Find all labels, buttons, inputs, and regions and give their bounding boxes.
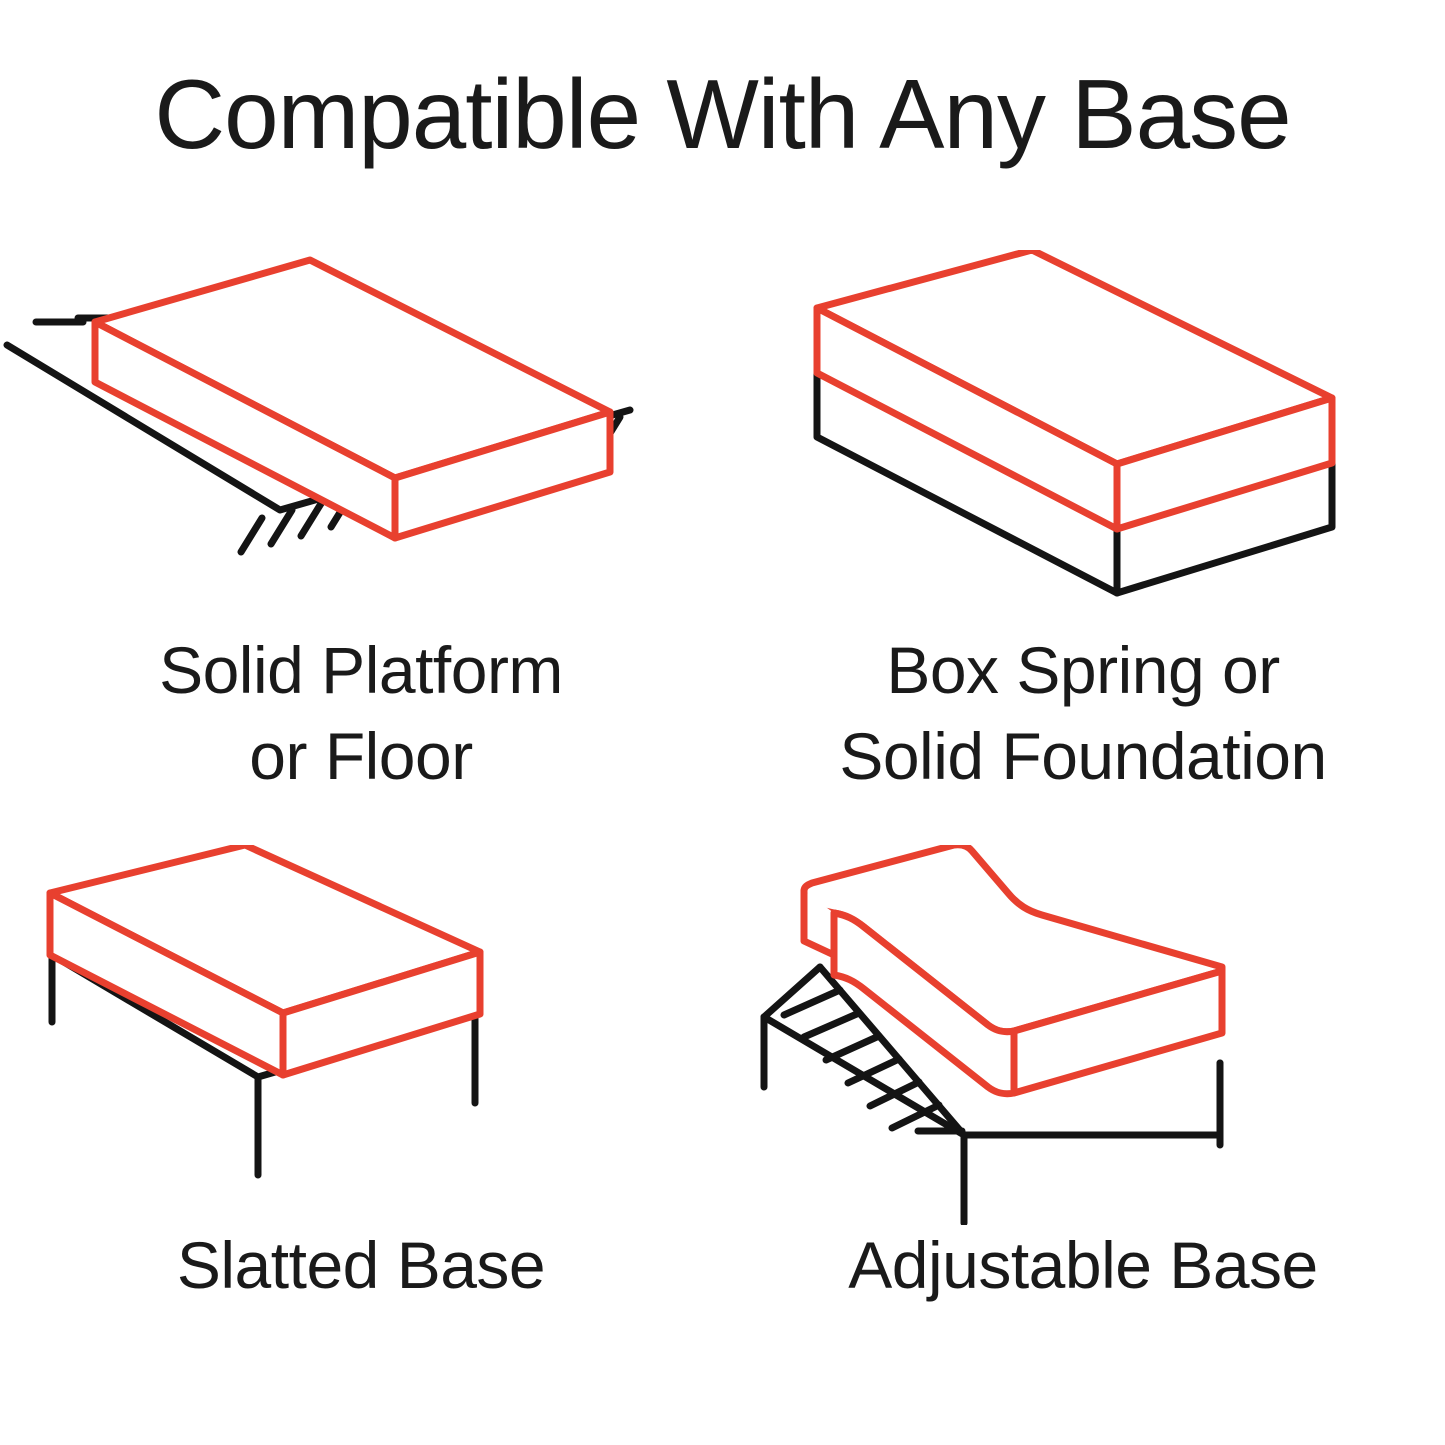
mattress-shape	[95, 260, 610, 538]
base-card-solid-platform: Solid Platform or Floor	[0, 250, 722, 845]
infographic-page: Compatible With Any Base	[0, 0, 1445, 1445]
page-title: Compatible With Any Base	[0, 62, 1445, 168]
mattress-shape	[50, 845, 480, 1075]
solid-platform-illustration	[0, 250, 722, 630]
box-spring-illustration	[722, 250, 1444, 630]
base-card-box-spring: Box Spring or Solid Foundation	[722, 250, 1444, 845]
base-card-caption: Slatted Base	[0, 1223, 722, 1309]
base-card-caption: Adjustable Base	[722, 1223, 1444, 1309]
mattress-shape	[804, 845, 1222, 1094]
base-card-slatted: Slatted Base	[0, 845, 722, 1440]
base-card-adjustable: Adjustable Base	[722, 845, 1444, 1440]
mattress-shape	[817, 250, 1332, 529]
adjustable-base-illustration	[722, 845, 1444, 1225]
slatted-base-illustration	[0, 845, 722, 1225]
base-card-caption: Solid Platform or Floor	[0, 628, 722, 800]
base-type-grid: Solid Platform or Floor	[0, 250, 1445, 1440]
base-card-caption: Box Spring or Solid Foundation	[722, 628, 1444, 800]
